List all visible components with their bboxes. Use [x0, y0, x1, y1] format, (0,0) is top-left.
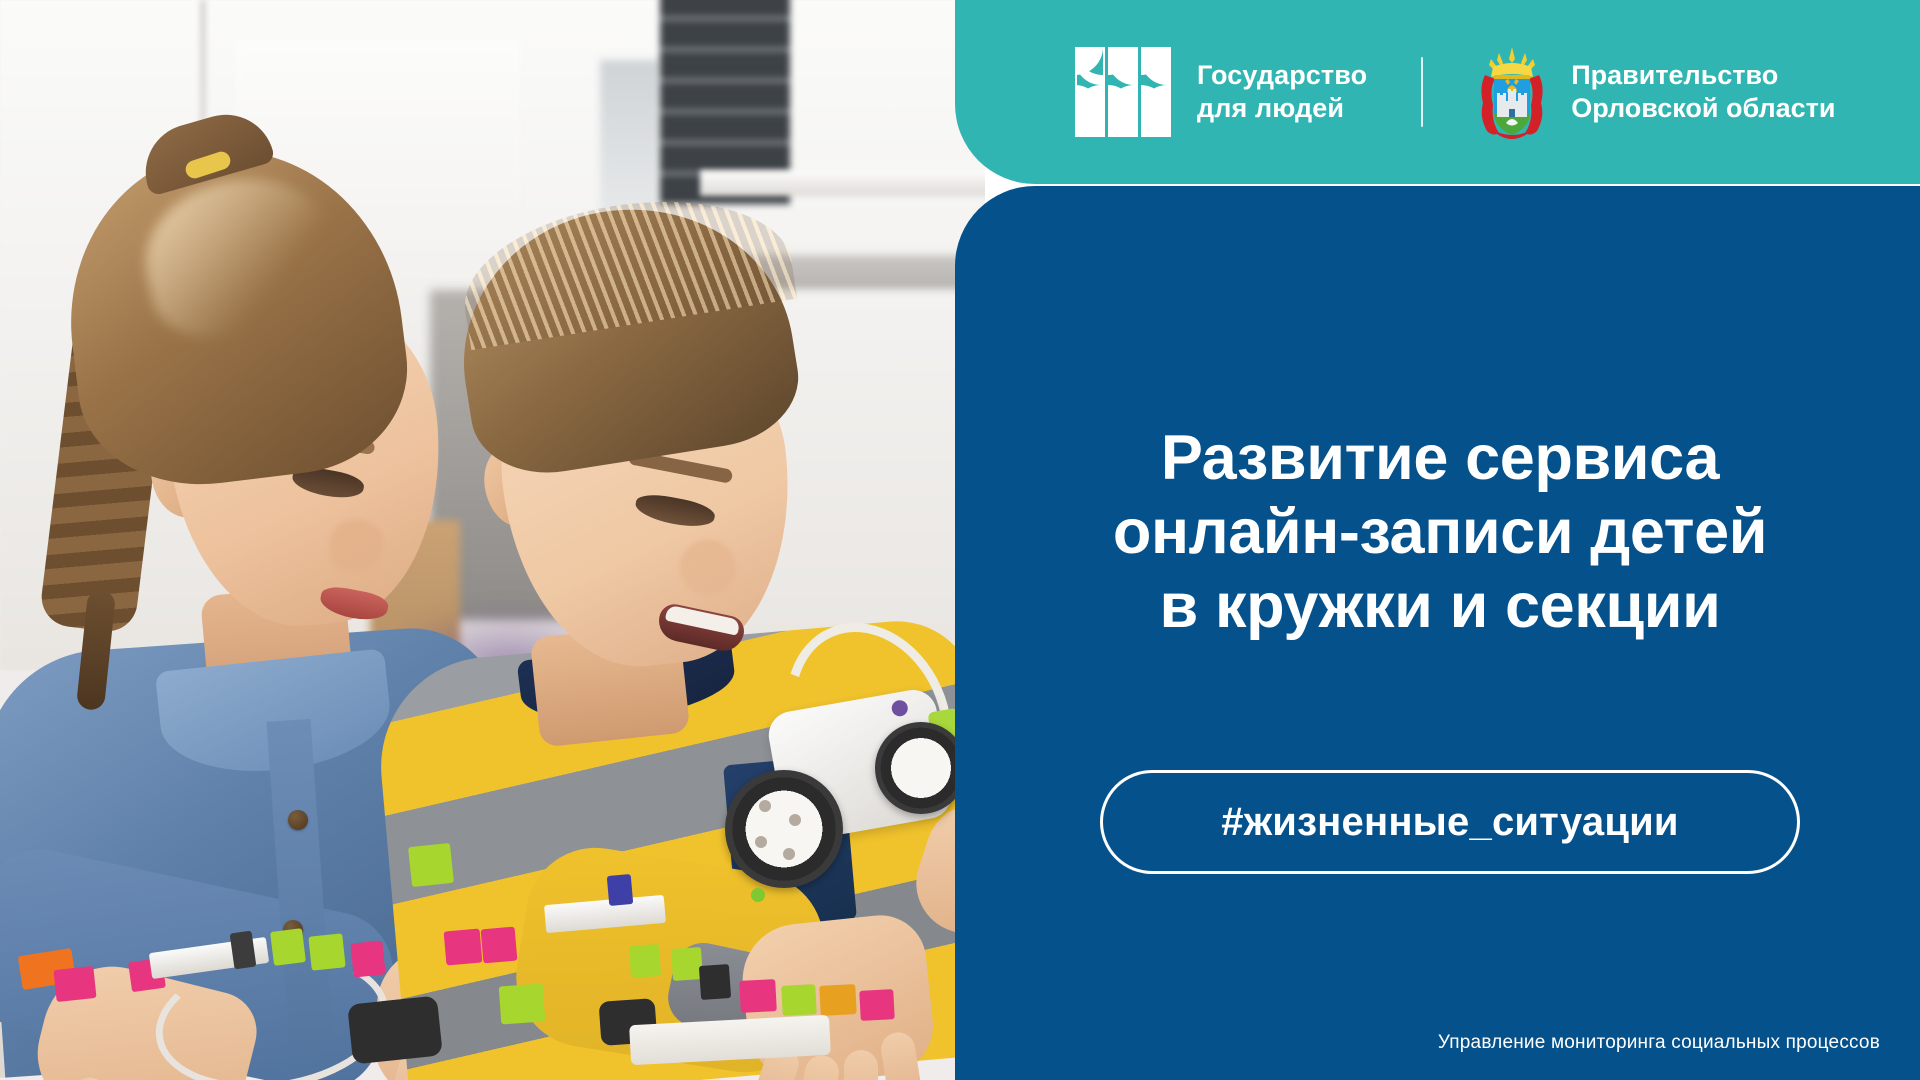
footer-department-label: Управление мониторинга социальных процес… [1438, 1032, 1880, 1054]
electronic-part [739, 979, 777, 1013]
electronic-part [444, 928, 483, 965]
electronic-part [781, 984, 817, 1016]
electronic-part [629, 944, 661, 978]
branding-row: Государство для людей [1075, 40, 1836, 144]
electronic-part [671, 947, 703, 981]
electronic-part [499, 984, 546, 1025]
robot-wheel [875, 722, 967, 814]
electronic-part [699, 964, 731, 1000]
photo-scene [0, 0, 985, 1080]
electronic-part [408, 843, 454, 887]
electronic-part [270, 928, 306, 966]
electronic-part [819, 984, 857, 1016]
government-lockup: Правительство Орловской области [1477, 43, 1835, 141]
electronic-part [53, 966, 96, 1002]
girl-shirt-button [288, 810, 308, 830]
electronic-part [350, 940, 385, 977]
electronic-part [607, 874, 634, 906]
electronic-motor [347, 995, 443, 1064]
wheel-hole [789, 814, 801, 826]
electronic-part [481, 927, 518, 964]
gosuslugi-lockup: Государство для людей [1075, 47, 1367, 137]
robot-indicator [890, 699, 909, 718]
promo-banner: Государство для людей [0, 0, 1920, 1080]
hashtag-badge[interactable]: #жизненные_ситуации [1100, 770, 1800, 874]
wheel-hole [783, 848, 795, 860]
gosudarstvo-dlya-lyudey-mark [1075, 47, 1171, 137]
boy-nose [680, 540, 736, 596]
government-brand-text: Правительство Орловской области [1571, 59, 1835, 125]
page-title: Развитие сервиса онлайн-записи детей в к… [1000, 422, 1880, 643]
robot-kit [735, 680, 985, 940]
brand-divider [1421, 57, 1423, 127]
boy-finger [844, 1050, 878, 1080]
oryol-oblast-coat-of-arms [1477, 43, 1547, 141]
wheel-hole [759, 800, 771, 812]
wheel-hole [755, 836, 767, 848]
electronic-part [859, 989, 895, 1021]
photo-children-robotics [0, 0, 985, 1080]
robot-led [751, 888, 765, 902]
electronic-part [308, 933, 345, 970]
robot-wheel [725, 770, 843, 888]
gosuslugi-brand-text: Государство для людей [1197, 59, 1367, 125]
